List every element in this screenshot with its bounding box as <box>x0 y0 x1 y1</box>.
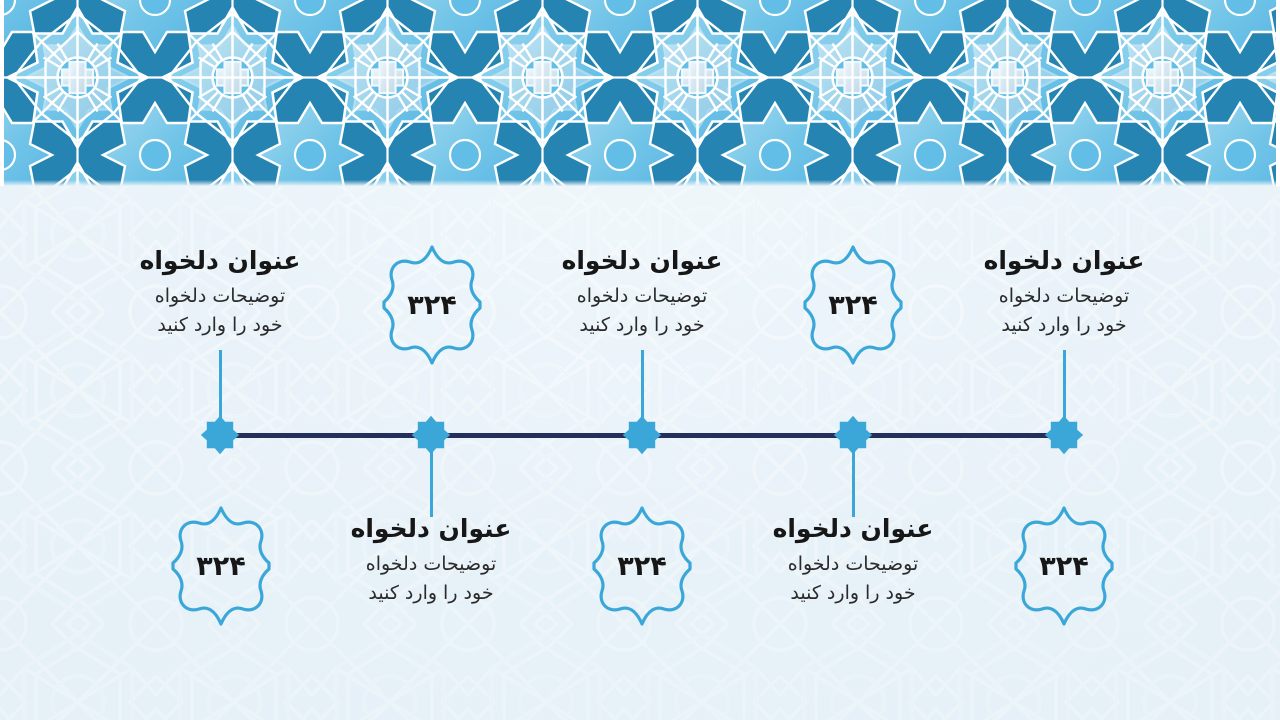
entry-description: توضیحات دلخواه خود را وارد کنید <box>936 282 1192 339</box>
entry-description: توضیحات دلخواه خود را وارد کنید <box>92 282 348 339</box>
entry-description-line-2: خود را وارد کنید <box>514 311 770 340</box>
number-badge-5[interactable]: ۳۲۴ <box>1012 504 1116 628</box>
number-badge-4[interactable]: ۳۲۴ <box>590 504 694 628</box>
timeline-entry-text-1: عنوان دلخواه توضیحات دلخواه خود را وارد … <box>92 245 348 339</box>
badge-number: ۳۲۴ <box>1012 504 1116 628</box>
number-badge-1[interactable]: ۳۲۴ <box>380 243 484 367</box>
entry-title: عنوان دلخواه <box>725 513 981 544</box>
entry-title: عنوان دلخواه <box>92 245 348 276</box>
timeline-node-star-2[interactable] <box>411 415 451 455</box>
timeline-node-star-3[interactable] <box>622 415 662 455</box>
badge-number: ۳۲۴ <box>590 504 694 628</box>
badge-number: ۳۲۴ <box>169 504 273 628</box>
entry-description-line-2: خود را وارد کنید <box>725 579 981 608</box>
header-left-margin <box>0 0 4 186</box>
entry-description: توضیحات دلخواه خود را وارد کنید <box>514 282 770 339</box>
entry-description-line-2: خود را وارد کنید <box>936 311 1192 340</box>
timeline-node-star-4[interactable] <box>833 415 873 455</box>
slide-canvas: عنوان دلخواه توضیحات دلخواه خود را وارد … <box>0 0 1280 720</box>
entry-description-line-2: خود را وارد کنید <box>92 311 348 340</box>
header-right-margin <box>1276 0 1280 186</box>
entry-description-line-1: توضیحات دلخواه <box>725 550 981 579</box>
entry-description-line-1: توضیحات دلخواه <box>514 282 770 311</box>
timeline-entry-text-3: عنوان دلخواه توضیحات دلخواه خود را وارد … <box>514 245 770 339</box>
timeline-entry-text-4: عنوان دلخواه توضیحات دلخواه خود را وارد … <box>725 513 981 607</box>
timeline-entry-text-2: عنوان دلخواه توضیحات دلخواه خود را وارد … <box>303 513 559 607</box>
entry-title: عنوان دلخواه <box>514 245 770 276</box>
entry-title: عنوان دلخواه <box>936 245 1192 276</box>
timeline-node-star-1[interactable] <box>200 415 240 455</box>
entry-description: توضیحات دلخواه خود را وارد کنید <box>725 550 981 607</box>
entry-description-line-1: توضیحات دلخواه <box>936 282 1192 311</box>
header-bottom-fade <box>0 180 1280 186</box>
number-badge-3[interactable]: ۳۲۴ <box>169 504 273 628</box>
entry-description: توضیحات دلخواه خود را وارد کنید <box>303 550 559 607</box>
entry-title: عنوان دلخواه <box>303 513 559 544</box>
timeline-entry-text-5: عنوان دلخواه توضیحات دلخواه خود را وارد … <box>936 245 1192 339</box>
header-geometric-pattern <box>0 0 1280 186</box>
badge-number: ۳۲۴ <box>801 243 905 367</box>
entry-description-line-2: خود را وارد کنید <box>303 579 559 608</box>
entry-description-line-1: توضیحات دلخواه <box>303 550 559 579</box>
badge-number: ۳۲۴ <box>380 243 484 367</box>
entry-description-line-1: توضیحات دلخواه <box>92 282 348 311</box>
number-badge-2[interactable]: ۳۲۴ <box>801 243 905 367</box>
header-ornament-band <box>0 0 1280 186</box>
timeline-node-star-5[interactable] <box>1044 415 1084 455</box>
